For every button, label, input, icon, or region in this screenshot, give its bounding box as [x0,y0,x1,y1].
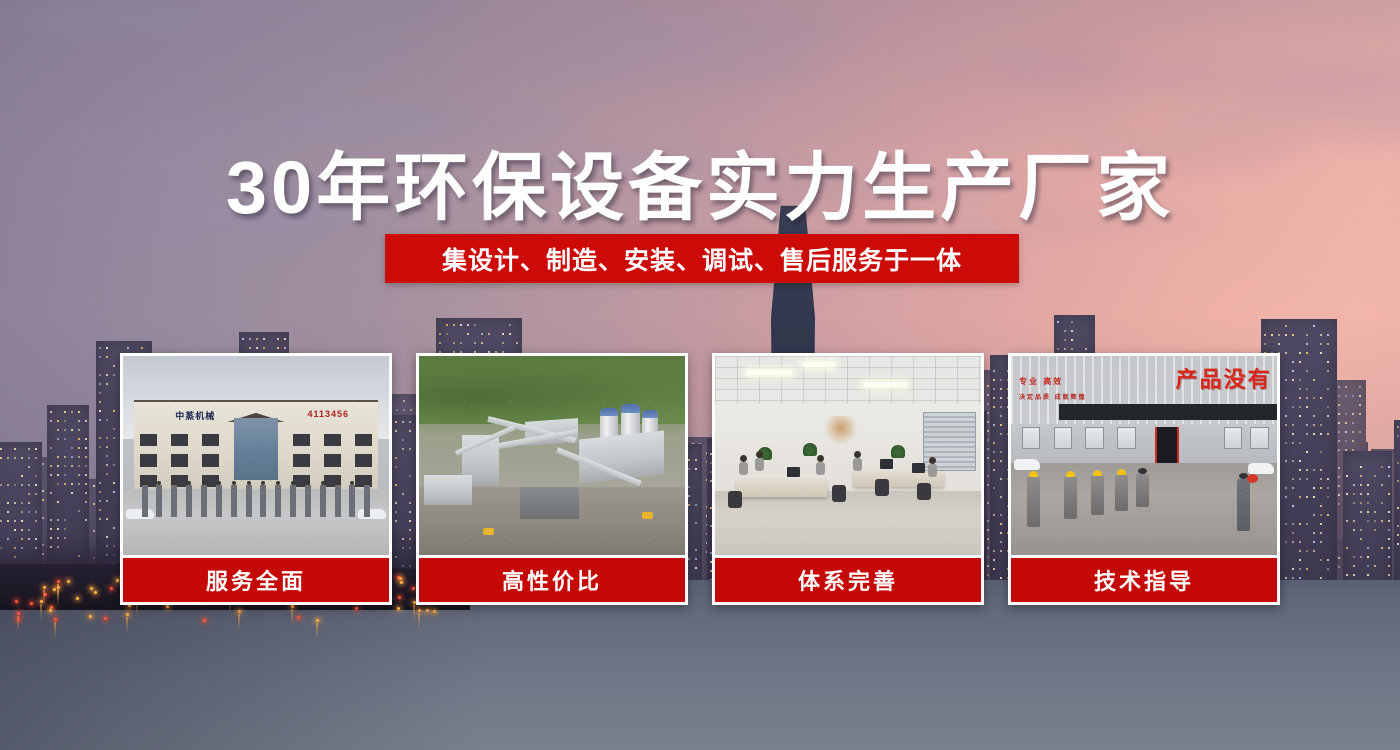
card-caption-bar: 体系完善 [715,558,981,602]
feature-card-system[interactable]: 体系完善 [712,353,984,605]
subtitle-banner: 集设计、制造、安装、调试、售后服务于一体 [385,234,1019,283]
factory-slogan-2: 决定品质 成就辉煌 [1019,392,1087,401]
promo-banner: 30年环保设备实力生产厂家 集设计、制造、安装、调试、售后服务于一体 中蒸机械 … [0,0,1400,750]
page-title: 30年环保设备实力生产厂家 [0,128,1400,235]
card-photo-office-building: 中蒸机械 4113456 [123,356,389,555]
factory-slogan-1: 专业 高效 [1019,376,1063,387]
card-caption-text: 服务全面 [206,564,306,596]
card-photo-office-interior [715,356,981,555]
feature-card-row: 中蒸机械 4113456 [120,353,1280,605]
card-photo-aerial-plant [419,356,685,555]
feature-card-training[interactable]: 产品没有 专业 高效 决定品质 成就辉煌 [1008,353,1280,605]
card-caption-text: 高性价比 [502,564,602,596]
card-caption-bar: 高性价比 [419,558,685,602]
feature-card-value[interactable]: 高性价比 [416,353,688,605]
card-photo-factory-workers: 产品没有 专业 高效 决定品质 成就辉煌 [1011,356,1277,555]
subtitle-text: 集设计、制造、安装、调试、售后服务于一体 [442,241,962,277]
building-sign-text: 中蒸机械 [175,409,215,422]
card-caption-text: 技术指导 [1094,564,1194,596]
card-caption-bar: 技术指导 [1011,558,1277,602]
card-caption-bar: 服务全面 [123,558,389,602]
building-phone-text: 4113456 [307,409,349,419]
card-caption-text: 体系完善 [798,564,898,596]
factory-sign-text: 产品没有 [1176,362,1272,394]
feature-card-service[interactable]: 中蒸机械 4113456 [120,353,392,605]
